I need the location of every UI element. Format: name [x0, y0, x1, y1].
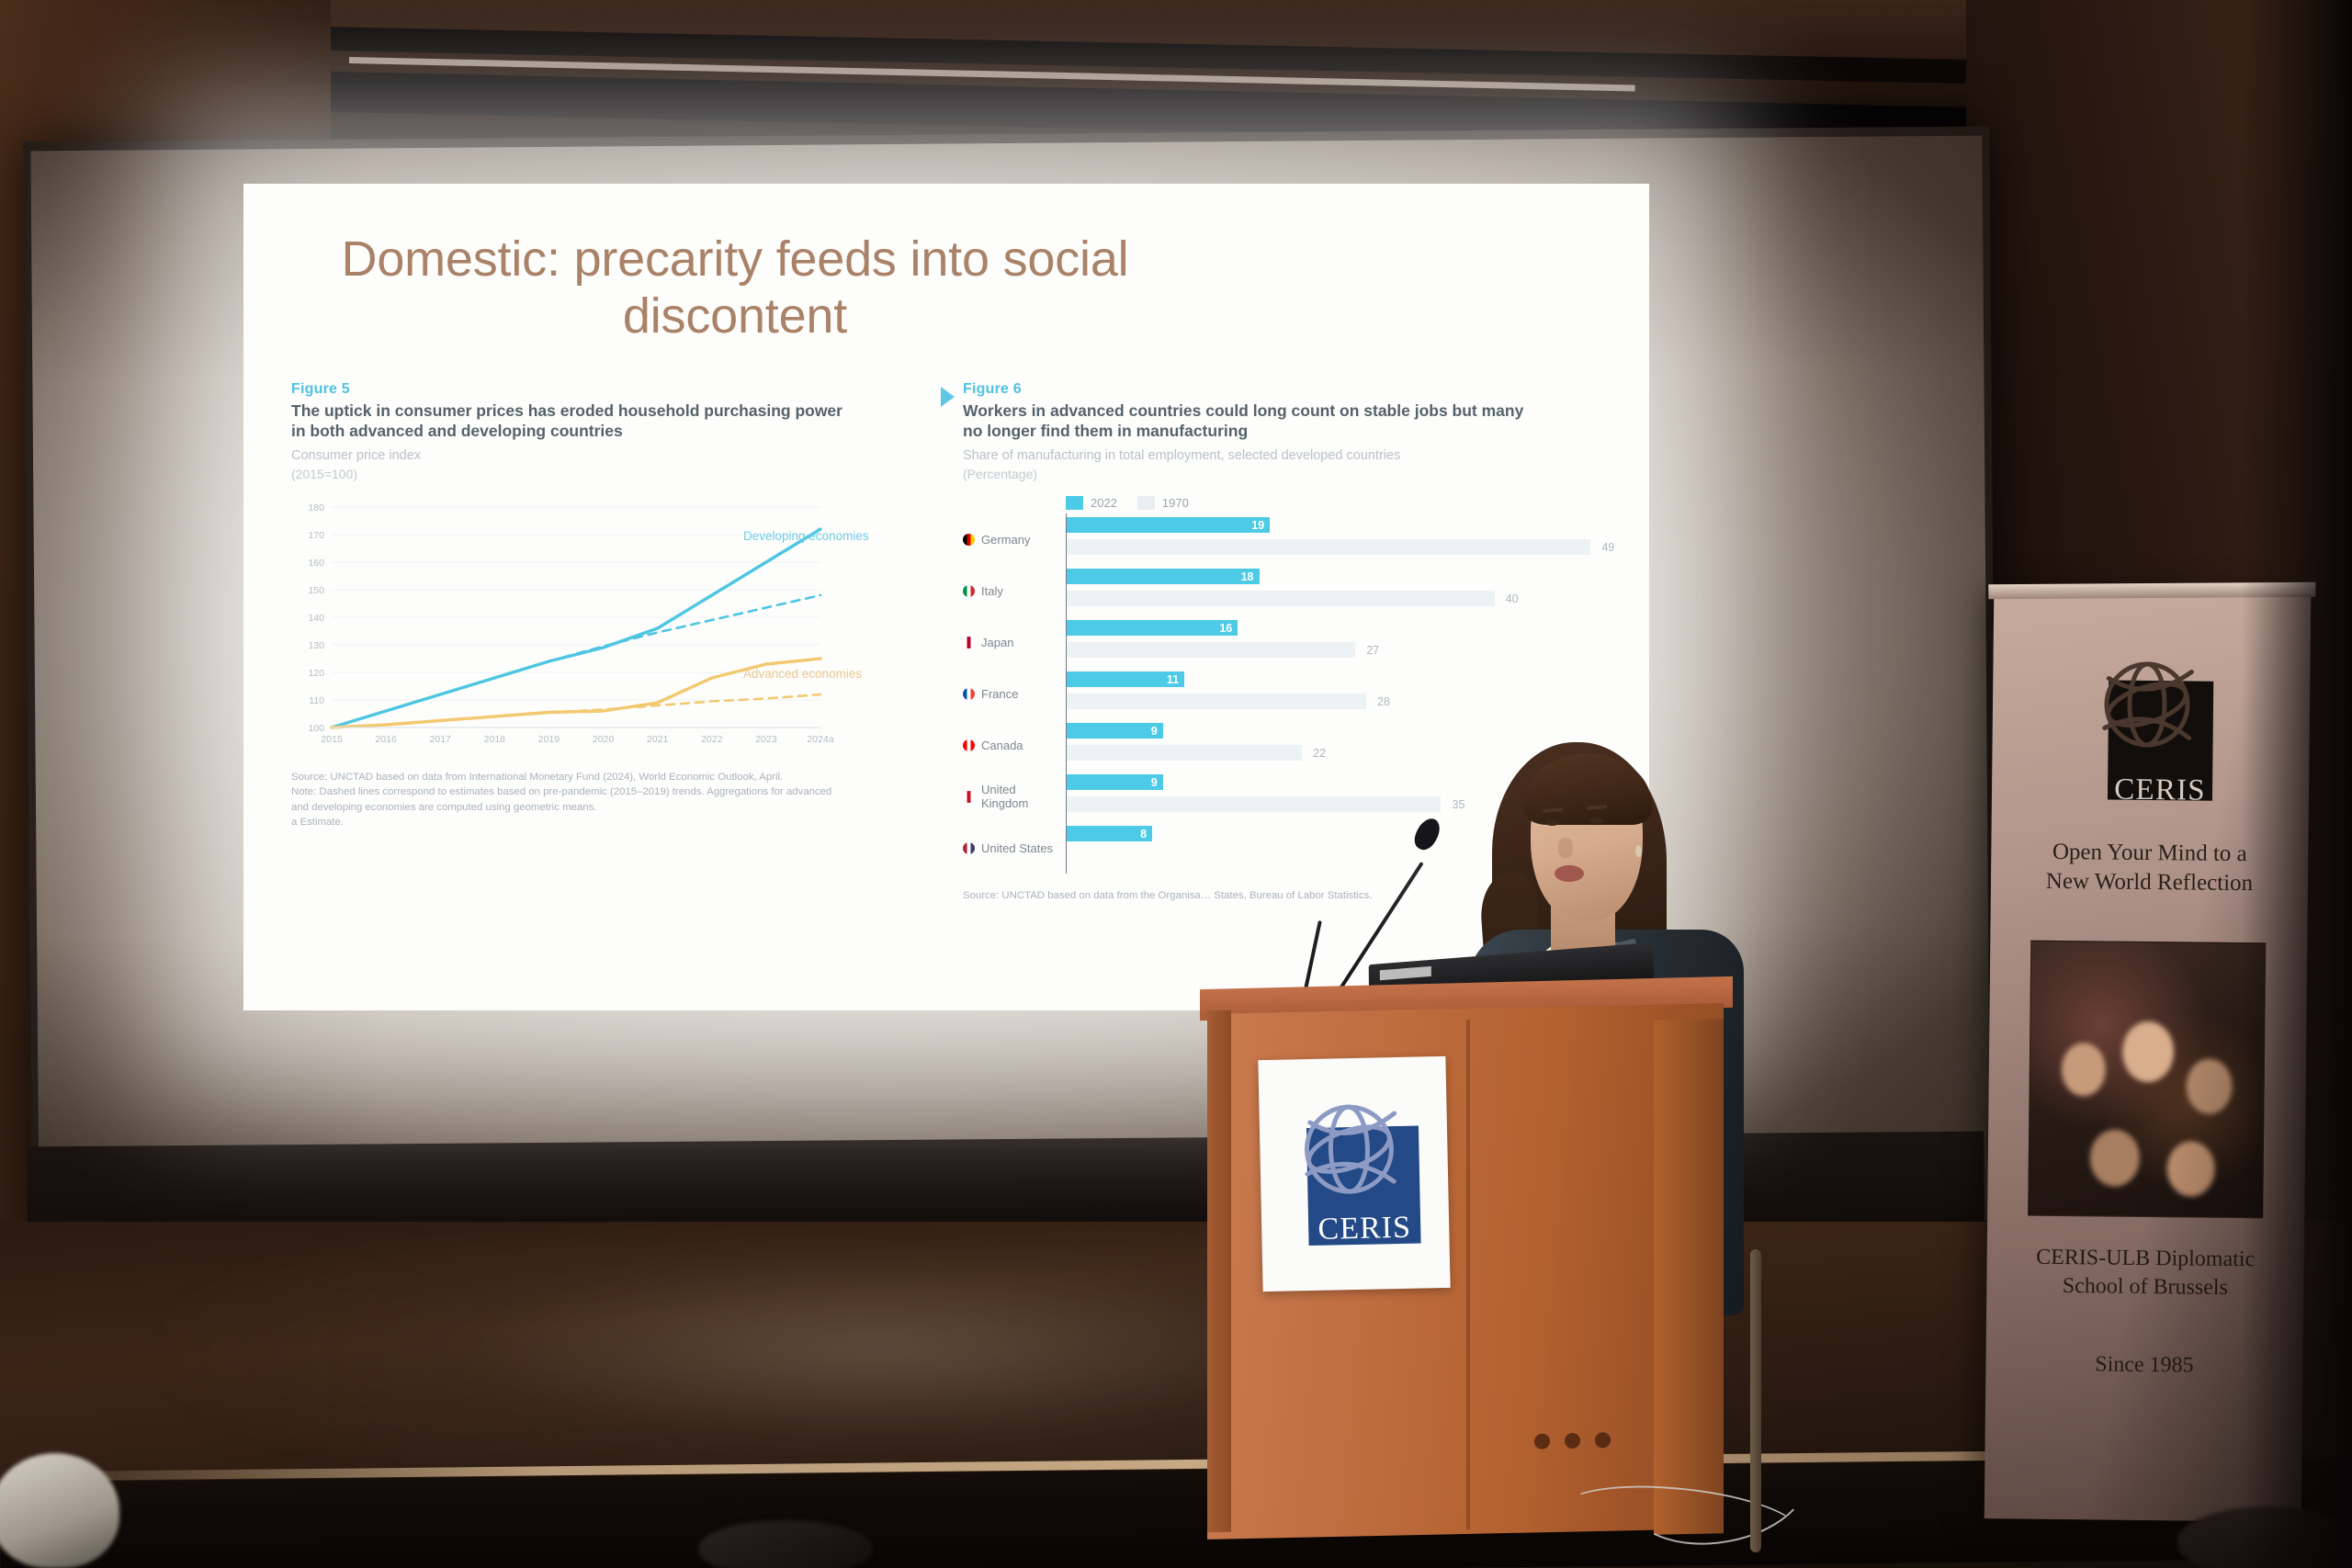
line-chart-series [332, 529, 820, 728]
bar-country-label: Japan [963, 636, 1066, 649]
bar-country-label: Italy [963, 584, 1066, 598]
svg-text:2018: 2018 [484, 734, 506, 745]
bar-country-name: United States [981, 841, 1053, 855]
figure-6-headline: Workers in advanced countries could long… [963, 400, 1532, 442]
flag-icon [963, 585, 975, 597]
ceris-wordmark-podium: CERIS [1308, 1213, 1421, 1247]
figure-5-unit: (2015=100) [291, 467, 930, 481]
flag-icon [963, 791, 975, 803]
bar-country-label: Germany [963, 533, 1066, 547]
figure-5-source-note: Source: UNCTAD based on data from Intern… [291, 770, 842, 829]
bar-value-1970: 22 [1313, 747, 1326, 760]
bar-value-1970: 40 [1506, 592, 1519, 605]
figure-6-arrow-icon [941, 387, 955, 407]
podium-ceris-sign: CERIS [1258, 1056, 1450, 1292]
legend-swatch-1970 [1137, 496, 1155, 510]
line-series-advanced-economies-pre-pandemic-trend- [548, 694, 820, 713]
bar-country-label: France [963, 687, 1066, 701]
bar-stack: 1840 [1066, 565, 1601, 616]
podium-panel-seam [1466, 1020, 1470, 1529]
bar-country-name: Japan [981, 636, 1013, 649]
figure-5-number: Figure 5 [291, 381, 930, 398]
bar-2022: 11 [1067, 671, 1184, 687]
figure-5-source: Source: UNCTAD based on data from Intern… [291, 770, 842, 784]
legend-item-2022: 2022 [1066, 496, 1117, 510]
svg-text:140: 140 [308, 613, 324, 624]
svg-text:160: 160 [308, 558, 324, 569]
svg-text:110: 110 [309, 695, 324, 706]
bar-country-label: Canada [963, 739, 1066, 752]
podium-left-edge [1207, 1010, 1231, 1533]
right-edge-shadow [2242, 0, 2352, 1568]
figure-5-subtitle: Consumer price index [291, 446, 930, 465]
bar-value-2022: 9 [1151, 725, 1163, 738]
figure-6-unit: (Percentage) [963, 467, 1601, 481]
figure-5-block: Figure 5 The uptick in consumer prices h… [291, 381, 930, 903]
figure-6-number: Figure 6 [963, 381, 1601, 398]
bar-value-2022: 18 [1241, 570, 1260, 583]
bar-value-2022: 9 [1151, 776, 1163, 789]
figure-6-subtitle: Share of manufacturing in total employme… [963, 446, 1601, 465]
flag-icon [963, 637, 975, 649]
svg-text:170: 170 [308, 530, 324, 541]
svg-text:2022: 2022 [701, 734, 723, 745]
bar-country-label: United Kingdom [963, 783, 1066, 810]
svg-text:2020: 2020 [593, 734, 615, 745]
bar-row: Italy1840 [963, 565, 1601, 616]
series-label-developing: Developing economies [743, 529, 869, 544]
conference-photo-scene: Domestic: precarity feeds into social di… [0, 0, 2352, 1568]
bar-1970: 22 [1067, 745, 1302, 761]
bar-country-name: Italy [981, 584, 1003, 598]
line-chart-y-axis-labels: 100110120130140150160170180 [308, 502, 324, 734]
svg-text:130: 130 [308, 640, 324, 651]
bar-country-name: France [981, 687, 1018, 701]
ceris-logo-podium: CERIS [1283, 1094, 1425, 1253]
flag-icon [963, 842, 975, 854]
svg-text:2024a: 2024a [807, 734, 833, 745]
podium-vent-holes [1534, 1432, 1611, 1450]
bar-value-2022: 11 [1167, 673, 1184, 686]
bar-stack: 1627 [1066, 616, 1601, 668]
bar-row: Japan1627 [963, 616, 1601, 668]
ceris-wordmark-banner: CERIS [2108, 775, 2212, 807]
figure-5-headline: The uptick in consumer prices has eroded… [291, 400, 861, 442]
banner-support-pole [1750, 1249, 1761, 1552]
speaker-eye-left [1545, 819, 1559, 826]
audience-head-center [698, 1520, 873, 1568]
series-label-advanced: Advanced economies [743, 667, 862, 682]
svg-text:2016: 2016 [375, 734, 397, 745]
banner-audience-photo [2028, 941, 2266, 1219]
slide-title: Domestic: precarity feeds into social di… [308, 231, 1162, 344]
svg-text:2021: 2021 [647, 734, 669, 745]
ceris-logo-banner: CERIS [2080, 654, 2222, 814]
bar-2022: 19 [1067, 517, 1270, 533]
svg-text:2015: 2015 [321, 734, 343, 745]
bar-stack: 1128 [1066, 668, 1601, 719]
speaker-mouth [1555, 865, 1584, 882]
bar-1970: 27 [1067, 642, 1355, 658]
speaker-eye-right [1589, 818, 1603, 824]
legend-swatch-2022 [1066, 496, 1083, 510]
projected-slide: Domestic: precarity feeds into social di… [243, 184, 1649, 1010]
bar-value-1970: 27 [1366, 644, 1379, 657]
speaker-nose [1558, 838, 1573, 858]
figure-6-source: Source: UNCTAD based on data from the Or… [963, 888, 1514, 903]
speaker-earring [1635, 845, 1642, 857]
svg-text:100: 100 [308, 723, 324, 734]
svg-text:2023: 2023 [755, 734, 777, 745]
flag-icon [963, 688, 975, 700]
audience-head-left [0, 1453, 119, 1568]
svg-text:180: 180 [308, 502, 324, 513]
figure-6-legend: 2022 1970 [1066, 496, 1601, 510]
bar-value-1970: 49 [1601, 541, 1614, 554]
bar-2022: 16 [1067, 620, 1238, 636]
figure-5-footnote: a Estimate. [291, 815, 842, 829]
svg-text:2019: 2019 [538, 734, 560, 745]
bar-2022: 8 [1067, 826, 1152, 841]
svg-text:2017: 2017 [430, 734, 452, 745]
ceris-globe-icon-banner [2082, 656, 2219, 761]
slide-figures-row: Figure 5 The uptick in consumer prices h… [280, 381, 1612, 903]
bar-row: Germany1949 [963, 513, 1601, 565]
svg-text:150: 150 [308, 585, 324, 596]
bar-2022: 9 [1067, 723, 1163, 739]
bar-1970: 35 [1067, 796, 1441, 812]
bar-country-name: United Kingdom [981, 783, 1066, 810]
laptop-sticker [1380, 966, 1431, 980]
ceris-globe-icon [1285, 1096, 1421, 1209]
podium: CERIS [1194, 983, 1736, 1534]
line-series-developing-economies [332, 529, 820, 728]
bar-country-label: United States [963, 841, 1066, 855]
figure-5-chart: 100110120130140150160170180 201520162017… [291, 496, 930, 755]
bar-1970: 28 [1067, 694, 1366, 709]
legend-item-1970: 1970 [1137, 496, 1189, 510]
bar-value-2022: 16 [1219, 622, 1238, 635]
svg-text:120: 120 [308, 668, 324, 679]
bar-2022: 18 [1067, 569, 1260, 584]
bar-value-2022: 19 [1251, 519, 1270, 532]
bar-country-name: Canada [981, 739, 1023, 752]
bar-value-2022: 8 [1140, 828, 1152, 840]
bar-country-name: Germany [981, 533, 1030, 547]
legend-label-1970: 1970 [1162, 496, 1189, 510]
bar-stack: 1949 [1066, 513, 1601, 565]
legend-label-2022: 2022 [1091, 496, 1117, 510]
flag-icon [963, 534, 975, 546]
flag-icon [963, 739, 975, 751]
bar-2022: 9 [1067, 774, 1163, 790]
bar-1970: 49 [1067, 539, 1590, 555]
bar-row: France1128 [963, 668, 1601, 719]
bar-1970: 40 [1067, 591, 1495, 606]
bar-value-1970: 28 [1377, 695, 1390, 708]
figure-5-note: Note: Dashed lines correspond to estimat… [291, 784, 842, 814]
line-chart-x-axis-labels: 2015201620172018201920202021202220232024… [321, 734, 833, 745]
